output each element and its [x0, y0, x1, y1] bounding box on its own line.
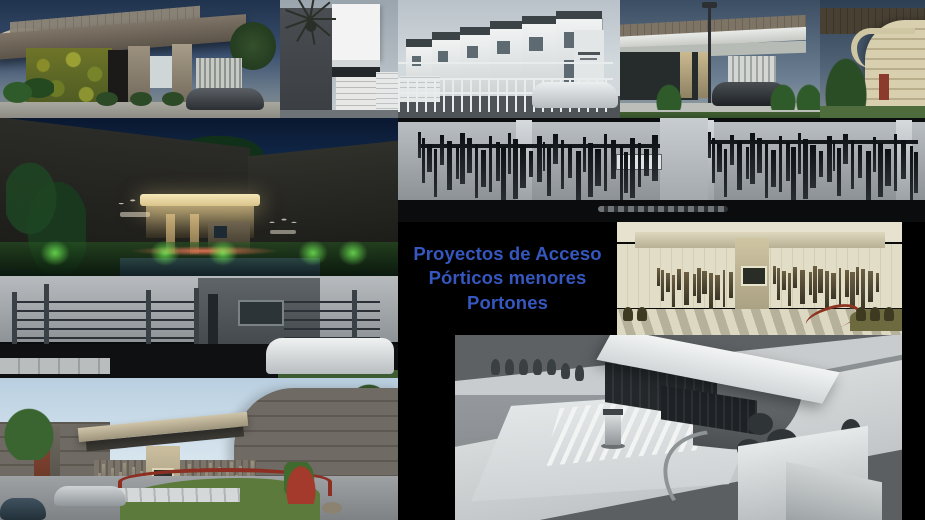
stone-cladding [336, 77, 376, 111]
presentation-slide: Proyectos de Acceso Pórticos menores Por… [0, 0, 925, 520]
gate-slat [702, 271, 707, 295]
facade-band [332, 60, 380, 67]
gate-slat [440, 135, 444, 165]
gate-slat [810, 145, 816, 188]
gate-slat [620, 146, 623, 204]
gate-slat [447, 141, 453, 190]
gate-slat [876, 273, 879, 291]
window [497, 41, 510, 54]
gate-slat [537, 136, 542, 181]
gate-slat [750, 133, 755, 185]
gate-slat [803, 139, 807, 199]
kerb-line [598, 206, 728, 212]
tree [547, 359, 556, 375]
wall-logo-subtext [270, 230, 296, 234]
shrub [637, 307, 647, 321]
gate-slat [583, 137, 586, 172]
gate-slat [723, 270, 726, 308]
gate-slat [757, 138, 763, 173]
gate-slat [513, 139, 517, 199]
decorative-rock [322, 502, 342, 514]
gate-slat [427, 144, 432, 172]
gate-slat [712, 138, 716, 183]
gate-slat [746, 147, 749, 180]
gate-slat [809, 272, 812, 295]
wall-logo-script [262, 214, 302, 228]
tree [519, 359, 528, 375]
white-modern-house-render [280, 0, 398, 118]
roof-parapet [556, 11, 602, 19]
vertical-slat-set [418, 130, 660, 202]
gate-slat [561, 140, 564, 190]
pedestrian-gate-panel [660, 118, 708, 210]
gate-slat [715, 275, 719, 300]
parked-car [532, 82, 618, 108]
gate-slat [813, 266, 817, 303]
gate-slat [624, 152, 628, 194]
sliding-gate-leaf [150, 294, 196, 346]
title-line-3: Portones [467, 291, 548, 315]
gate-slat [894, 134, 898, 190]
gate-slat [604, 134, 608, 190]
tree [575, 365, 584, 381]
shrub [870, 307, 880, 321]
gray-sliding-gate-with-car-render [0, 276, 398, 378]
shrub [162, 92, 184, 106]
tree [505, 359, 514, 375]
booth-window [214, 226, 227, 238]
tree [491, 359, 500, 375]
shrub [884, 307, 894, 321]
street-lamp-head [702, 2, 717, 8]
gate-slat [697, 268, 701, 303]
window [467, 46, 478, 58]
tan-portico-gate-render [617, 222, 902, 335]
sidewalk [0, 358, 110, 374]
gate-slat [819, 151, 823, 177]
tree [561, 363, 570, 379]
gate-slat [851, 140, 854, 190]
fence-rail [398, 78, 613, 80]
gate-slat [782, 271, 786, 291]
gate-slat [773, 266, 776, 284]
gate-slat [901, 140, 906, 179]
gate-opening [150, 56, 172, 88]
gate-slat [818, 269, 823, 293]
palm-planting [656, 84, 682, 110]
night-lit-main-entrance-render [0, 118, 398, 276]
vertical-slat-set [708, 130, 918, 202]
vertical-slat-set [773, 264, 877, 312]
gate-slat [508, 133, 511, 174]
control-kiosk [605, 413, 621, 445]
shrub [623, 307, 633, 321]
gate-slat [652, 135, 658, 181]
curved-stone-wall-render [820, 0, 925, 118]
gate-slat [858, 145, 862, 178]
gate-slat [644, 149, 649, 176]
shrub [130, 92, 152, 106]
roof-parapet [522, 16, 556, 24]
landscape-uplight [208, 240, 238, 266]
gate-slat [529, 151, 533, 177]
gate-slat [856, 267, 859, 296]
landscape-uplight [150, 240, 180, 266]
gate-slat [595, 149, 601, 186]
gate-slat [638, 143, 641, 187]
gate-slat [771, 150, 776, 187]
sliding-gate-leaf [14, 294, 148, 346]
lit-entry-canopy [140, 194, 260, 206]
landscape-uplight [40, 240, 70, 266]
gate-slat [501, 147, 506, 205]
booth-window [741, 266, 767, 286]
aerial-massing-study-render [455, 335, 902, 520]
gate-slat [845, 270, 849, 297]
gate-slat [779, 136, 782, 192]
title-text-panel: Proyectos de Acceso Pórticos menores Por… [398, 222, 617, 335]
black-filler [398, 335, 455, 520]
gate-slat [611, 140, 616, 179]
palm-frond [310, 18, 336, 20]
white-volume [332, 4, 380, 60]
gate-slat [788, 273, 791, 306]
entrance-signage-wall [574, 30, 604, 82]
gate-slat [657, 268, 660, 286]
red-door [879, 74, 889, 100]
shrub [856, 307, 866, 321]
gate-slat [885, 149, 891, 186]
gate-slat [765, 144, 769, 198]
palm-planting [770, 84, 796, 110]
landscape-uplight [298, 240, 328, 266]
street-lamp-post [708, 4, 711, 108]
shrub [96, 92, 118, 106]
gate-slat [496, 142, 500, 181]
gate-slat [839, 268, 842, 308]
gate-slat [837, 148, 841, 196]
gate-slat [422, 138, 426, 183]
gate-slat [910, 146, 913, 204]
gate-slat [724, 149, 727, 196]
portico-with-lamppost-render [620, 0, 820, 118]
window [438, 51, 448, 62]
gate-slat [568, 145, 572, 178]
gate-slat [868, 271, 873, 302]
palm-tree [2, 406, 56, 460]
grayscale-slat-gate-panorama [398, 118, 925, 222]
gate-slat [831, 273, 835, 299]
gate-slat [800, 270, 805, 305]
townhouse-row-grayscale-render [398, 0, 620, 118]
gate-slat [729, 272, 733, 299]
gate-slat [467, 138, 473, 173]
gate-slat [793, 267, 797, 288]
palm-planting [824, 56, 868, 112]
foreground-planting [2, 66, 54, 110]
fence-rail [398, 62, 613, 64]
gate-slat [737, 141, 743, 190]
gate-slat [630, 138, 635, 199]
gate-slat [456, 147, 459, 180]
gate-slat [873, 137, 876, 172]
palm-planting [796, 84, 820, 110]
window-band [332, 67, 380, 77]
parked-car [186, 88, 264, 110]
gate-slat [520, 145, 526, 188]
ground [280, 110, 398, 118]
parked-car [54, 486, 126, 506]
window [529, 37, 543, 51]
gate-slat [543, 142, 546, 171]
gate-slat [827, 136, 832, 181]
gate-slat [661, 270, 664, 301]
tree [533, 359, 542, 375]
gate-slat [825, 271, 828, 309]
gate-slat [717, 144, 722, 172]
gate-slat [861, 269, 865, 312]
gate-slat [547, 148, 551, 196]
daylight-entrance-gate-render [0, 378, 398, 520]
gate-slat [418, 132, 421, 158]
gate-slat [709, 273, 712, 310]
gate-slat [576, 151, 582, 203]
gate-slat [489, 136, 492, 192]
parked-car [266, 338, 394, 374]
parked-car [0, 498, 46, 520]
gate-slat [777, 268, 780, 300]
lawn [820, 106, 925, 118]
kiosk-cap [603, 409, 623, 415]
landscape-uplight [338, 240, 368, 266]
gate-slat [791, 147, 796, 205]
title-line-2: Pórticos menores [429, 266, 587, 290]
gate-slat [460, 133, 465, 185]
gate-slat [914, 152, 918, 194]
gate-slat [553, 134, 558, 165]
gate-slat [684, 272, 689, 306]
title-line-1: Proyectos de Acceso [413, 242, 601, 266]
signage-text-mark [578, 52, 600, 55]
gate-slat [588, 143, 593, 197]
roof-parapet [490, 21, 524, 29]
gate-slat [666, 273, 670, 292]
gate-slat [866, 151, 872, 203]
roof-parapet [460, 27, 494, 35]
gate-slat [843, 134, 848, 165]
gate-slat [672, 275, 675, 307]
gate-slat [481, 150, 486, 187]
gate-slat [878, 143, 883, 197]
black-filler [902, 222, 925, 520]
gate-slat [833, 142, 836, 171]
signage-subtext-mark [580, 58, 597, 60]
gate-slat [708, 132, 711, 158]
window [412, 56, 421, 66]
gate-slat [693, 274, 696, 296]
vertical-slat-set [657, 266, 731, 312]
gate-slat [786, 142, 790, 181]
gate-slat [434, 149, 437, 196]
gate-slat [798, 133, 801, 174]
ornamental-planting [284, 462, 318, 504]
gate-slat [677, 269, 681, 290]
gatehouse-window [238, 300, 284, 326]
gatehouse-door [208, 294, 218, 344]
dusk-villa-entrance-render [0, 0, 280, 118]
gate-slat [730, 135, 734, 165]
gate-slat [475, 144, 479, 198]
